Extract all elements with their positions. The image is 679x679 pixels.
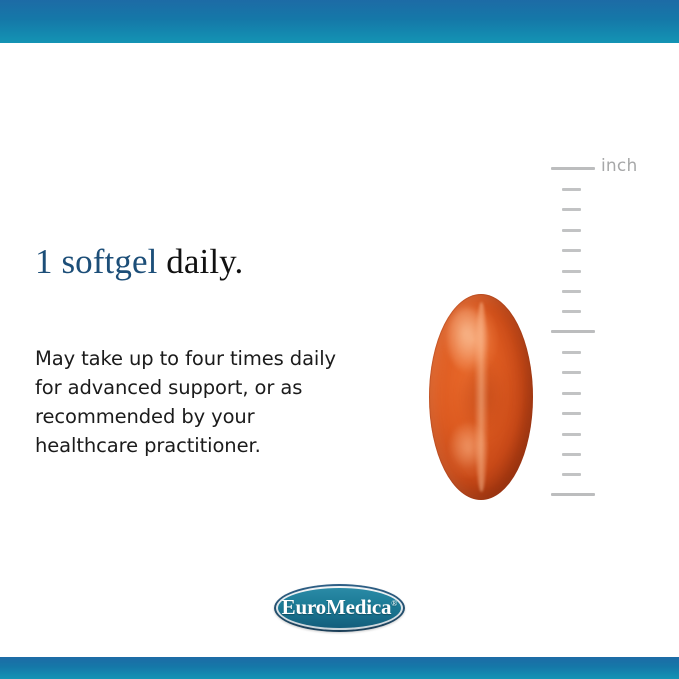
ruler-tick-minor-13 [562,453,581,456]
logo-inner-ellipse: EuroMedica® [278,588,401,628]
logo-wordmark: EuroMedica® [282,597,398,618]
dosage-instructions: May take up to four times daily for adva… [35,344,375,460]
ruler-tick-major-1 [551,330,595,333]
inch-ruler: inch [551,160,651,505]
ruler-tick-minor-6 [562,290,581,293]
page-title: 1 softgel daily. [35,240,243,284]
ruler-tick-minor-11 [562,412,581,415]
dosage-line-4: healthcare practitioner. [35,431,375,460]
ruler-unit-label: inch [601,156,637,176]
logo-registered-mark: ® [391,599,397,608]
euromedica-logo: EuroMedica® [274,584,405,632]
headline-plain-text: daily. [157,242,243,281]
ruler-tick-major-0 [551,167,595,170]
ruler-tick-minor-10 [562,392,581,395]
dosage-line-3: recommended by your [35,402,375,431]
ruler-tick-minor-9 [562,371,581,374]
capsule-rim [429,294,533,500]
logo-brand-name: EuroMedica [282,595,392,619]
ruler-tick-minor-3 [562,229,581,232]
ruler-tick-minor-8 [562,351,581,354]
dosage-line-2: for advanced support, or as [35,373,375,402]
ruler-tick-minor-12 [562,433,581,436]
softgel-capsule [429,294,533,500]
ruler-tick-minor-7 [562,310,581,313]
ruler-tick-minor-1 [562,188,581,191]
bottom-brand-bar [0,657,679,679]
ruler-tick-major-2 [551,493,595,496]
ruler-tick-minor-2 [562,208,581,211]
ruler-tick-minor-14 [562,473,581,476]
headline-accent-text: 1 softgel [35,242,157,281]
ruler-tick-minor-5 [562,270,581,273]
dosage-line-1: May take up to four times daily [35,344,375,373]
ruler-tick-minor-4 [562,249,581,252]
top-brand-bar [0,0,679,43]
product-dosage-panel: 1 softgel daily. May take up to four tim… [0,0,679,679]
